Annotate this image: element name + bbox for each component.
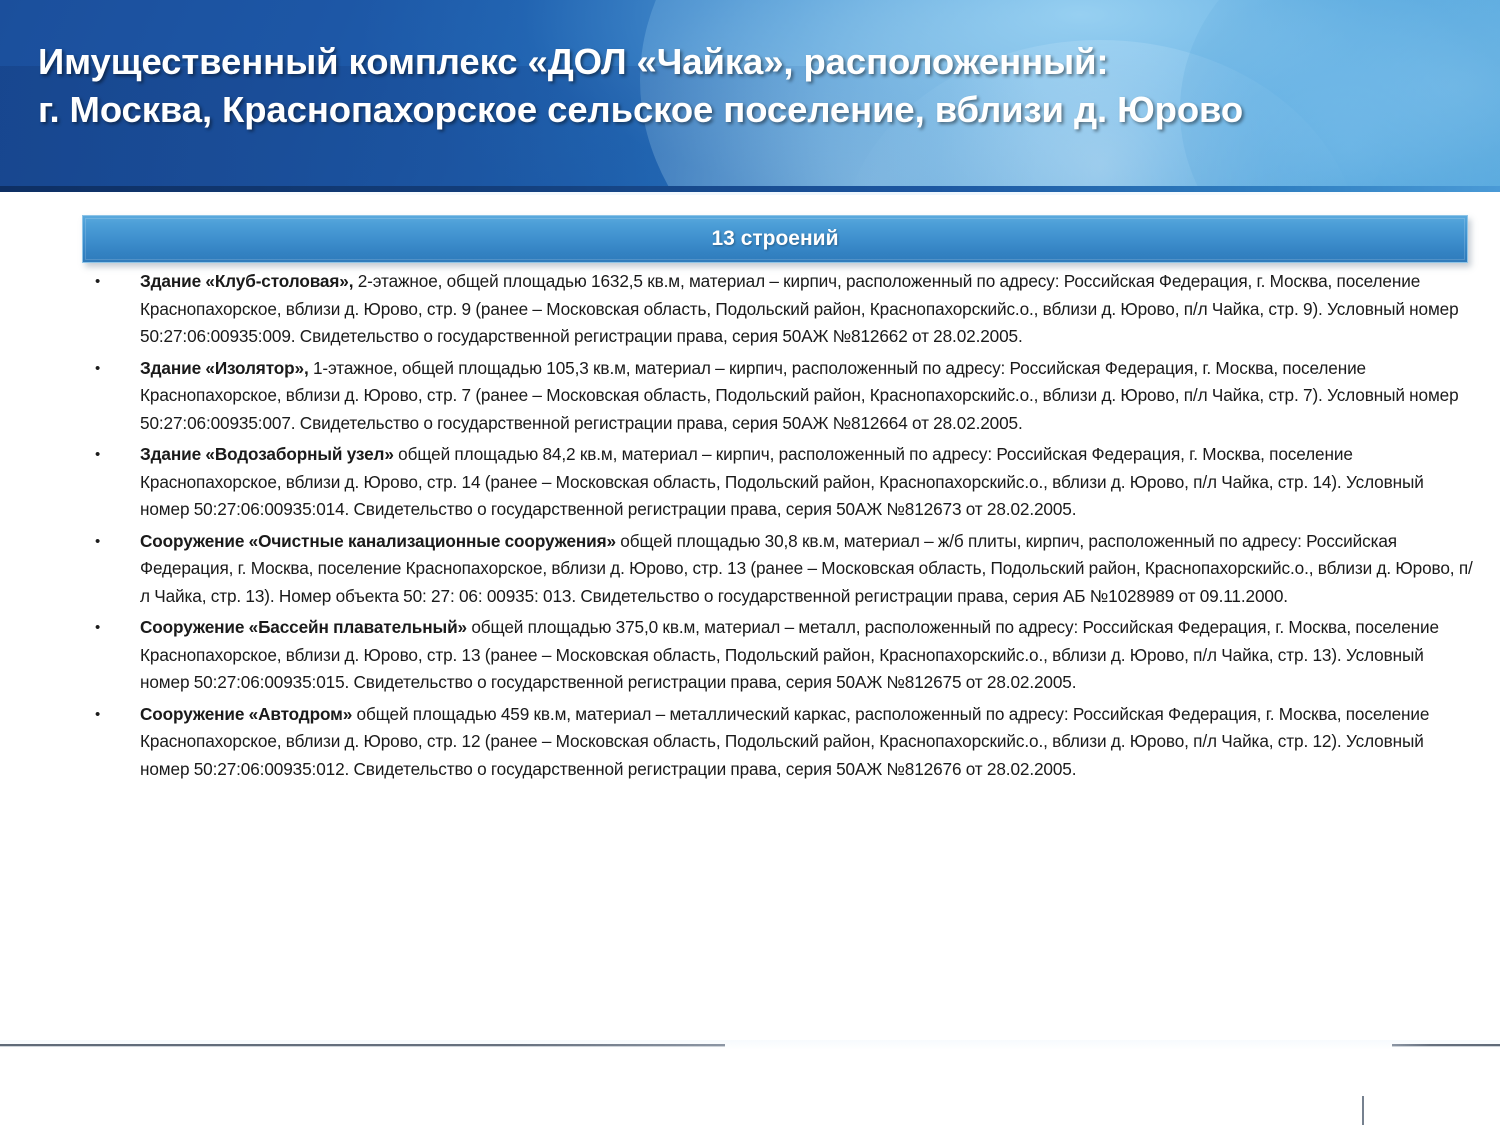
list-item: • Сооружение «Очистные канализационные с… (82, 528, 1474, 611)
list-item-lead: Сооружение «Бассейн плавательный» (140, 617, 467, 637)
list-item: • Здание «Клуб-столовая», 2-этажное, общ… (82, 268, 1474, 351)
footer-tick-mark (1362, 1096, 1364, 1125)
bullet-marker-icon: • (82, 614, 140, 642)
bullet-marker-icon: • (82, 441, 140, 469)
section-title-label: 13 строений (82, 215, 1468, 263)
list-item-lead: Здание «Водозаборный узел» (140, 444, 394, 464)
buildings-list: • Здание «Клуб-столовая», 2-этажное, общ… (82, 268, 1474, 787)
bullet-marker-icon: • (82, 355, 140, 383)
list-item-text: Здание «Водозаборный узел» общей площадь… (140, 441, 1474, 524)
footer-divider-left-shadow (0, 1046, 725, 1047)
list-item-lead: Сооружение «Очистные канализационные соо… (140, 531, 616, 551)
list-item: • Здание «Водозаборный узел» общей площа… (82, 441, 1474, 524)
slide-title: Имущественный комплекс «ДОЛ «Чайка», рас… (38, 38, 1468, 134)
list-item-text: Сооружение «Автодром» общей площадью 459… (140, 701, 1474, 784)
footer-divider-right-shadow (1392, 1046, 1500, 1047)
bullet-marker-icon: • (82, 701, 140, 729)
header-underline-glow (0, 192, 1500, 195)
list-item: • Сооружение «Бассейн плавательный» обще… (82, 614, 1474, 697)
list-item-lead: Здание «Изолятор», (140, 358, 309, 378)
bullet-marker-icon: • (82, 528, 140, 556)
list-item-lead: Сооружение «Автодром» (140, 704, 352, 724)
list-item-text: Здание «Изолятор», 1-этажное, общей площ… (140, 355, 1474, 438)
section-title-bar: 13 строений (82, 215, 1468, 263)
list-item-body: 1-этажное, общей площадью 105,3 кв.м, ма… (140, 358, 1459, 433)
list-item-text: Сооружение «Очистные канализационные соо… (140, 528, 1474, 611)
list-item-text: Здание «Клуб-столовая», 2-этажное, общей… (140, 268, 1474, 351)
list-item: • Сооружение «Автодром» общей площадью 4… (82, 701, 1474, 784)
bullet-marker-icon: • (82, 268, 140, 296)
list-item-text: Сооружение «Бассейн плавательный» общей … (140, 614, 1474, 697)
header-banner: Имущественный комплекс «ДОЛ «Чайка», рас… (0, 0, 1500, 186)
list-item-lead: Здание «Клуб-столовая», (140, 271, 353, 291)
list-item: • Здание «Изолятор», 1-этажное, общей пл… (82, 355, 1474, 438)
